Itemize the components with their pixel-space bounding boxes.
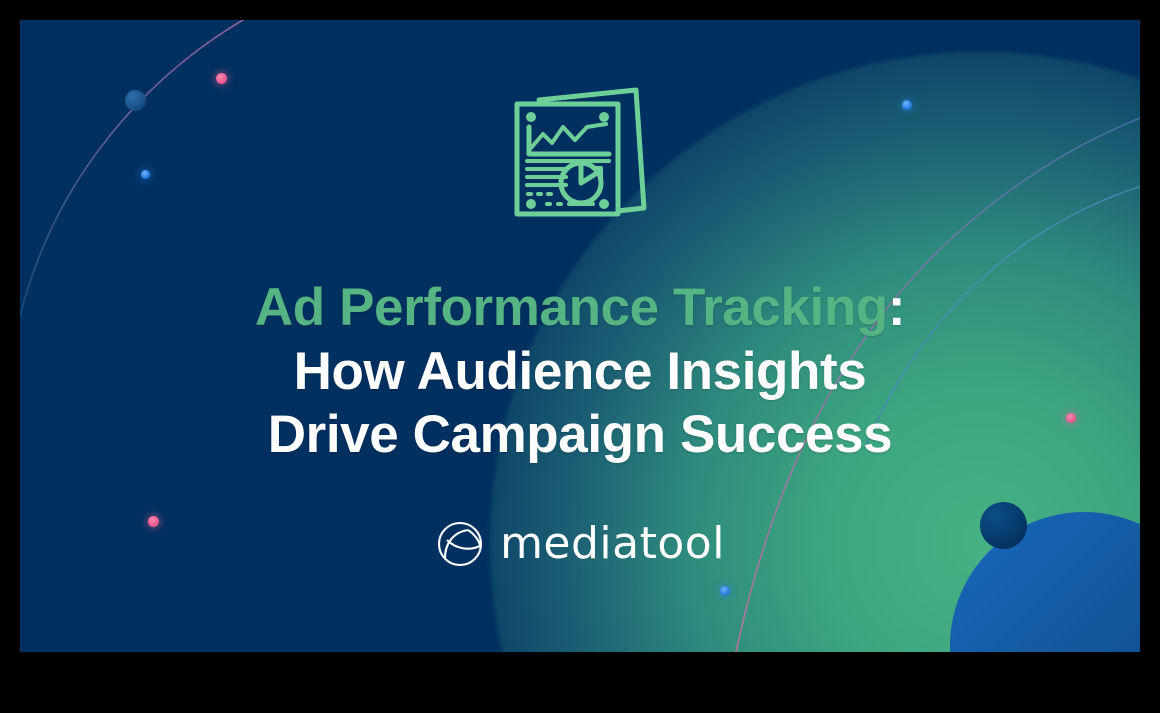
mediatool-globe-icon	[435, 519, 485, 569]
headline-line-2: How Audience Insights	[255, 340, 905, 404]
screenshot-viewport: Ad Performance Tracking: How Audience In…	[0, 0, 1160, 713]
headline-accent-text: Ad Performance Tracking	[255, 278, 888, 337]
slide-headline: Ad Performance Tracking: How Audience In…	[255, 276, 905, 467]
mediatool-logo: mediatool	[435, 519, 725, 569]
slide-content: Ad Performance Tracking: How Audience In…	[20, 20, 1140, 652]
headline-colon: :	[888, 278, 905, 337]
report-analytics-icon	[505, 82, 655, 234]
mediatool-wordmark: mediatool	[500, 522, 725, 566]
headline-line-3: Drive Campaign Success	[255, 403, 905, 467]
video-slide[interactable]: Ad Performance Tracking: How Audience In…	[20, 20, 1140, 652]
headline-line-1: Ad Performance Tracking:	[255, 276, 905, 340]
